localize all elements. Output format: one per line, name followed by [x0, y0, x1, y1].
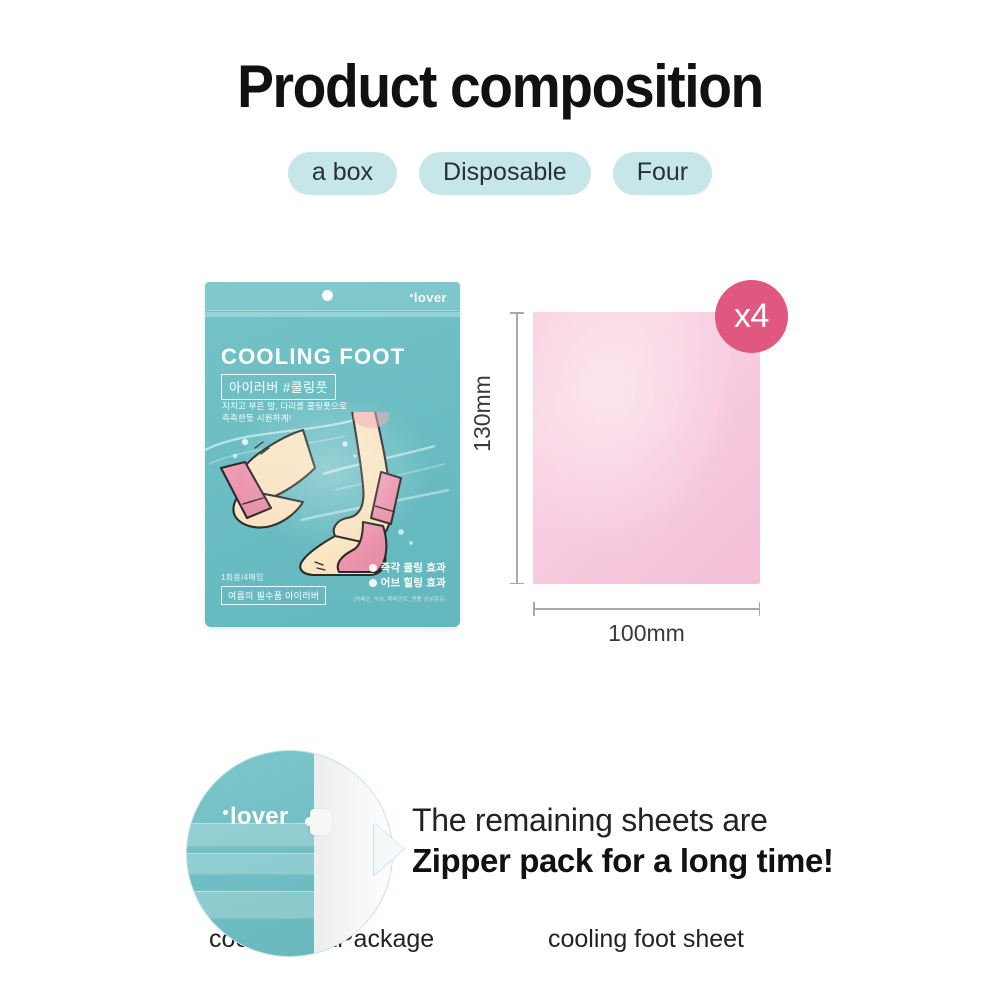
package-title: COOLING FOOT: [221, 344, 405, 370]
zipper-feature-section: lover The remaining sheets are Zipper pa…: [0, 745, 1000, 970]
bullet-dot-icon: [369, 579, 377, 587]
package-korean-tag: 아이러버 #쿨링풋: [221, 374, 336, 400]
zipper-slider-icon: [310, 809, 332, 835]
zipper-callout-line-2: Zipper pack for a long time!: [412, 840, 834, 881]
dimension-line-stroke: [533, 608, 760, 610]
package-benefit-1-label: 즉각 쿨링 효과: [381, 562, 446, 574]
logo-dot-icon: [223, 810, 228, 815]
package-usage-note: 1회용/4매입: [221, 572, 264, 583]
product-composition-page: Product composition a box Disposable Fou…: [0, 0, 1000, 1000]
dimension-cap-top: [510, 312, 524, 314]
zipper-closeup-circle: lover: [186, 750, 393, 957]
quantity-badge: x4: [715, 280, 788, 353]
zipper-callout-line-1: The remaining sheets are: [412, 800, 834, 840]
sheet-height-dimension-line: [510, 312, 524, 584]
package-hang-hole-icon: [322, 290, 333, 301]
bullet-dot-icon: [369, 564, 377, 572]
zipper-ridge: [187, 853, 314, 875]
feature-badge-row: a box Disposable Four: [0, 152, 1000, 195]
feature-badge-four: Four: [613, 152, 712, 195]
package-brand-logo-text: lover: [414, 290, 447, 305]
package-benefit-2-label: 어브 힐링 효과: [381, 577, 446, 589]
page-title: Product composition: [40, 52, 960, 121]
package-zip-line: [205, 312, 460, 317]
logo-dot-icon: [410, 294, 413, 297]
package-boxed-note: 여름의 필수품 아이러버: [221, 586, 326, 605]
product-row: lover COOLING FOOT 아이러버 #쿨링풋 지치고 부은 발, 다…: [0, 262, 1000, 702]
callout-pointer-icon: [374, 823, 404, 875]
sheet-sheen: [533, 312, 760, 584]
feature-badge-a-box: a box: [288, 152, 397, 195]
dimension-cap-bottom: [510, 583, 524, 585]
zipper-brand-logo: lover: [223, 803, 288, 831]
cooling-foot-sheet: [533, 312, 760, 584]
package-ingredients-text: (카페인, 녹차, 페퍼민트, 멘톨 성분함유): [353, 595, 446, 603]
zipper-callout-text: The remaining sheets are Zipper pack for…: [412, 800, 834, 881]
sheet-width-label: 100mm: [533, 620, 760, 647]
zipper-brand-logo-text: lover: [230, 803, 288, 830]
dimension-line-stroke: [516, 312, 518, 584]
sheet-width-dimension-line: [533, 602, 760, 616]
package-image: lover COOLING FOOT 아이러버 #쿨링풋 지치고 부은 발, 다…: [205, 282, 460, 627]
feature-badge-disposable: Disposable: [419, 152, 591, 195]
package-benefit-list: 즉각 쿨링 효과 어브 힐링 효과: [369, 561, 446, 591]
zipper-ridge: [187, 891, 314, 919]
package-pouch: lover COOLING FOOT 아이러버 #쿨링풋 지치고 부은 발, 다…: [205, 282, 460, 627]
sheet-image: 130mm 100mm x4: [470, 262, 820, 682]
dimension-cap-right: [759, 602, 761, 616]
package-benefit-1: 즉각 쿨링 효과: [369, 561, 446, 576]
package-brand-logo: lover: [410, 290, 447, 305]
package-benefit-2: 어브 힐링 효과: [369, 576, 446, 591]
dimension-cap-left: [533, 602, 535, 616]
sheet-height-label: 130mm: [469, 375, 496, 452]
